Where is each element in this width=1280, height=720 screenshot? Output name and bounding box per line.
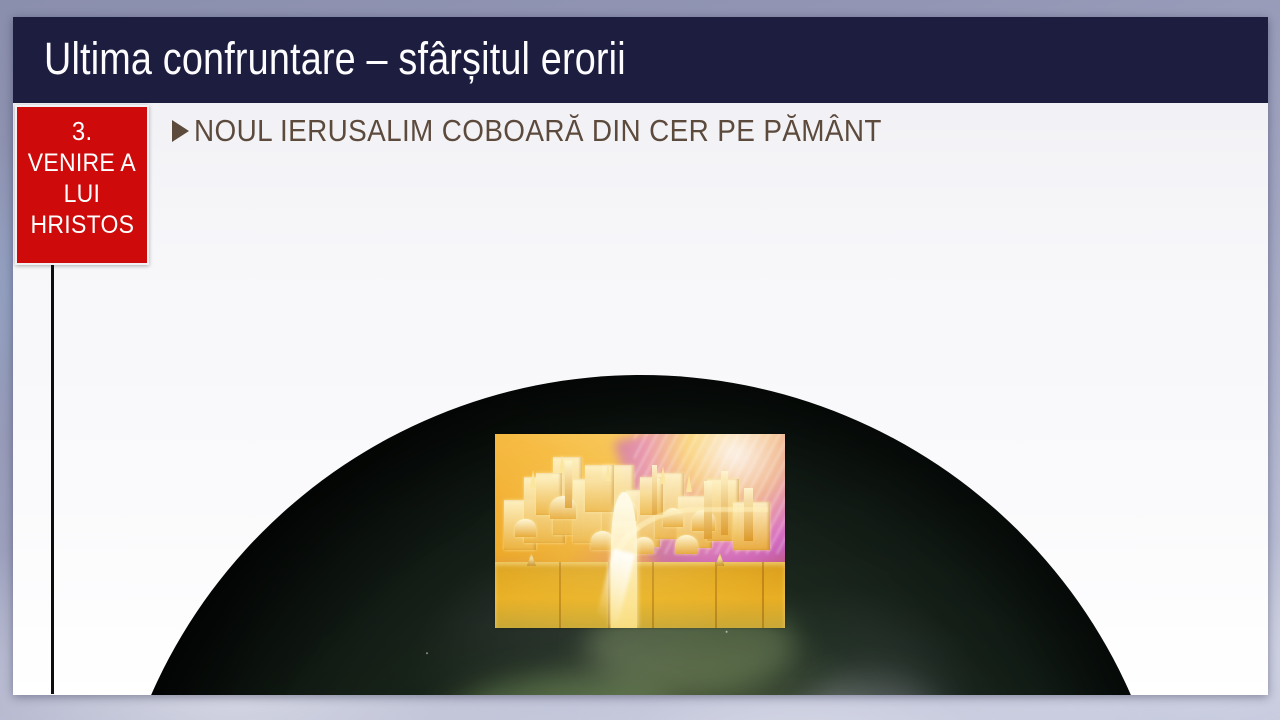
slide-title-bar: Ultima confruntare – sfârșitul erorii: [13, 17, 1268, 103]
globe-landmass: [796, 675, 946, 695]
bullet-row: NOUL IERUSALIM COBOARĂ DIN CER PE PĂMÂNT: [172, 113, 958, 149]
bullet-text: NOUL IERUSALIM COBOARĂ DIN CER PE PĂMÂNT: [194, 113, 882, 149]
chapter-badge-line-2: LUI: [64, 179, 101, 210]
slide-viewport: Ultima confruntare – sfârșitul erorii 3.…: [0, 0, 1280, 720]
triangle-right-bullet-icon: [172, 120, 189, 142]
page-title: Ultima confruntare – sfârșitul erorii: [44, 33, 626, 85]
chapter-badge-number: 3.: [72, 114, 93, 148]
presentation-slide: Ultima confruntare – sfârșitul erorii 3.…: [13, 17, 1268, 695]
chapter-badge: 3. VENIRE A LUI HRISTOS: [15, 105, 149, 265]
globe-landmass: [436, 675, 696, 695]
city-haze: [495, 434, 785, 628]
chapter-badge-line-3: HRISTOS: [30, 210, 134, 241]
new-jerusalem-illustration: [495, 434, 785, 628]
chapter-badge-line-1: VENIRE A: [28, 148, 136, 179]
timeline-rule: [51, 265, 54, 694]
